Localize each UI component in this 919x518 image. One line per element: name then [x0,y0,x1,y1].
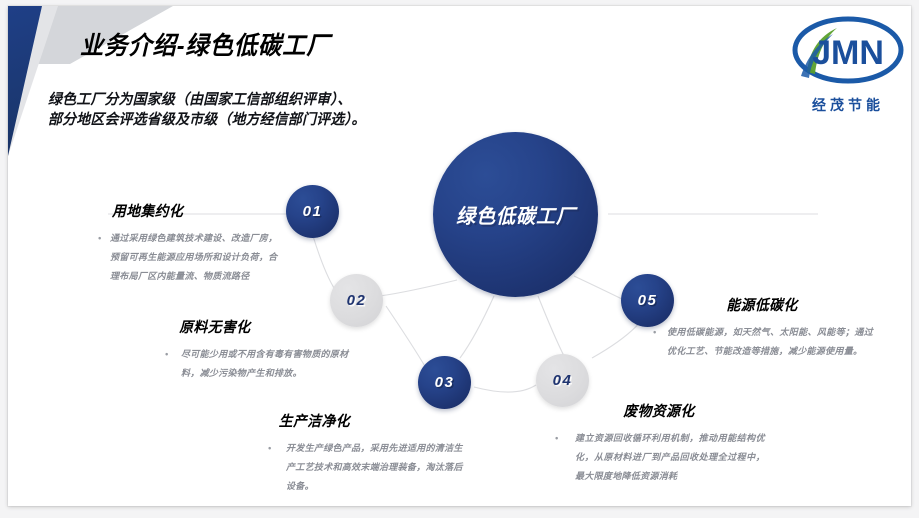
info-block-04: 废物资源化 建立资源回收循环利用机制，推动用能结构优化，从原材料进厂到产品回收处… [553,400,765,486]
spoke-center-03 [460,296,494,358]
info-block-02-body: 尽可能少用或不用含有毒有害物质的原材料，减少污染物产生和排放。 [163,345,359,383]
info-block-03-body: 开发生产绿色产品，采用先进适用的清洁生产工艺技术和高效末端治理装备，淘汰落后设备… [266,439,471,496]
info-block-05-heading: 能源低碳化 [657,294,868,315]
info-block-04-heading: 废物资源化 [558,400,759,421]
node-number-01: 01 [303,203,323,220]
info-block-01-body: 通过采用绿色建筑技术建设、改造厂房，预留可再生能源应用场所和设计负荷，合理布局厂… [96,229,282,286]
info-block-05-body: 使用低碳能源，如天然气、太阳能、风能等；通过优化工艺、节能改造等措施，减少能源使… [651,323,873,361]
center-node-label: 绿色低碳工厂 [456,200,576,229]
info-block-01-heading: 用地集约化 [101,200,278,221]
node-number-03: 03 [435,374,455,391]
logo-mark-text: JMN [812,34,884,72]
info-block-04-body: 建立资源回收循环利用机制，推动用能结构优化，从原材料进厂到产品回收处理全过程中，… [553,429,765,486]
spoke-center-05 [574,276,628,302]
subtitle-line-1: 绿色工厂分为国家级（由国家工信部组织评审）、 [48,90,366,110]
node-number-04: 04 [553,372,573,389]
subtitle-line-2: 部分地区会评选省级及市级（地方经信部门评选）。 [48,110,366,130]
node-number-02: 02 [347,292,367,309]
logo-mark-icon: JMN [785,16,911,88]
connector-03-04 [474,385,536,392]
info-block-01: 用地集约化 通过采用绿色建筑技术建设、改造厂房，预留可再生能源应用场所和设计负荷… [96,200,282,286]
diagram-node-01[interactable]: 01 [286,185,339,238]
logo-company-name: 经茂节能 [783,95,911,115]
diagram-center-node[interactable]: 绿色低碳工厂 [433,132,598,297]
company-logo: JMN 经茂节能 [783,16,911,116]
connector-02-03 [386,306,426,368]
slide-canvas: 业务介绍-绿色低碳工厂 绿色工厂分为国家级（由国家工信部组织评审）、 部分地区会… [8,6,911,506]
info-block-02-heading: 原料无害化 [168,316,354,337]
info-block-05: 能源低碳化 使用低碳能源，如天然气、太阳能、风能等；通过优化工艺、节能改造等措施… [651,294,873,361]
diagram-node-03[interactable]: 03 [418,356,471,409]
info-block-02: 原料无害化 尽可能少用或不用含有毒有害物质的原材料，减少污染物产生和排放。 [163,316,359,383]
info-block-03-heading: 生产洁净化 [271,410,466,431]
page-title: 业务介绍-绿色低碳工厂 [80,26,330,62]
page-subtitle: 绿色工厂分为国家级（由国家工信部组织评审）、 部分地区会评选省级及市级（地方经信… [48,90,366,130]
spoke-center-04 [538,296,564,356]
spoke-center-02 [380,280,457,296]
info-block-03: 生产洁净化 开发生产绿色产品，采用先进适用的清洁生产工艺技术和高效末端治理装备，… [266,410,471,496]
